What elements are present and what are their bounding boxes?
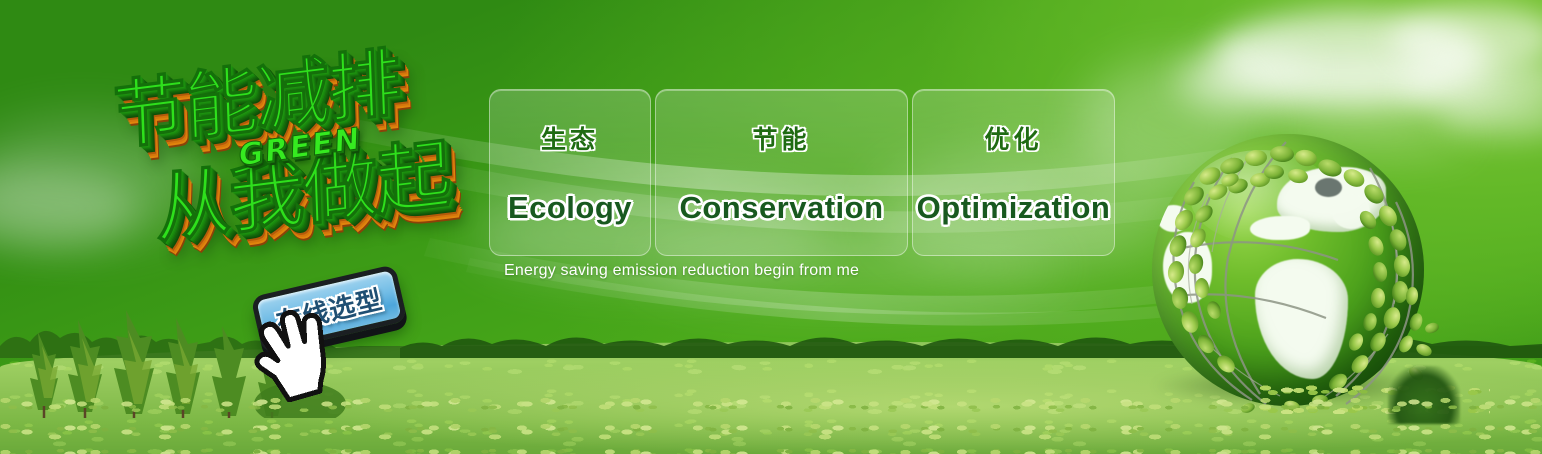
feature-card-optimization[interactable]: 优化 Optimization [912,89,1115,256]
banner-tagline: Energy saving emission reduction begin f… [504,262,859,280]
headline-3d-art: 节能减排 从我做起 GREEN [96,34,496,274]
feature-card-conservation-cn: 节能 [752,120,810,156]
ground-leaf-litter [0,390,1542,454]
feature-card-conservation-en: Conservation [679,190,883,226]
feature-card-ecology-en: Ecology [508,190,632,226]
feature-card-conservation[interactable]: 节能 Conservation [655,89,908,256]
feature-cards: 生态 Ecology 节能 Conservation 优化 Optimizati… [489,89,1115,256]
globe-sphere [1152,134,1424,406]
leafy-globe-icon [1140,128,1440,428]
feature-card-optimization-cn: 优化 [984,120,1042,156]
continent-south-america [1255,259,1347,379]
hand-pointer-icon [247,310,333,402]
eco-hero-banner: 节能减排 从我做起 GREEN 在线选型 生态 Ecology 节能 Conse… [0,0,1542,454]
feature-card-ecology[interactable]: 生态 Ecology [489,89,651,256]
feature-card-optimization-en: Optimization [917,190,1111,226]
online-selection-cta[interactable]: 在线选型 [247,268,427,378]
feature-card-ecology-cn: 生态 [541,120,599,156]
